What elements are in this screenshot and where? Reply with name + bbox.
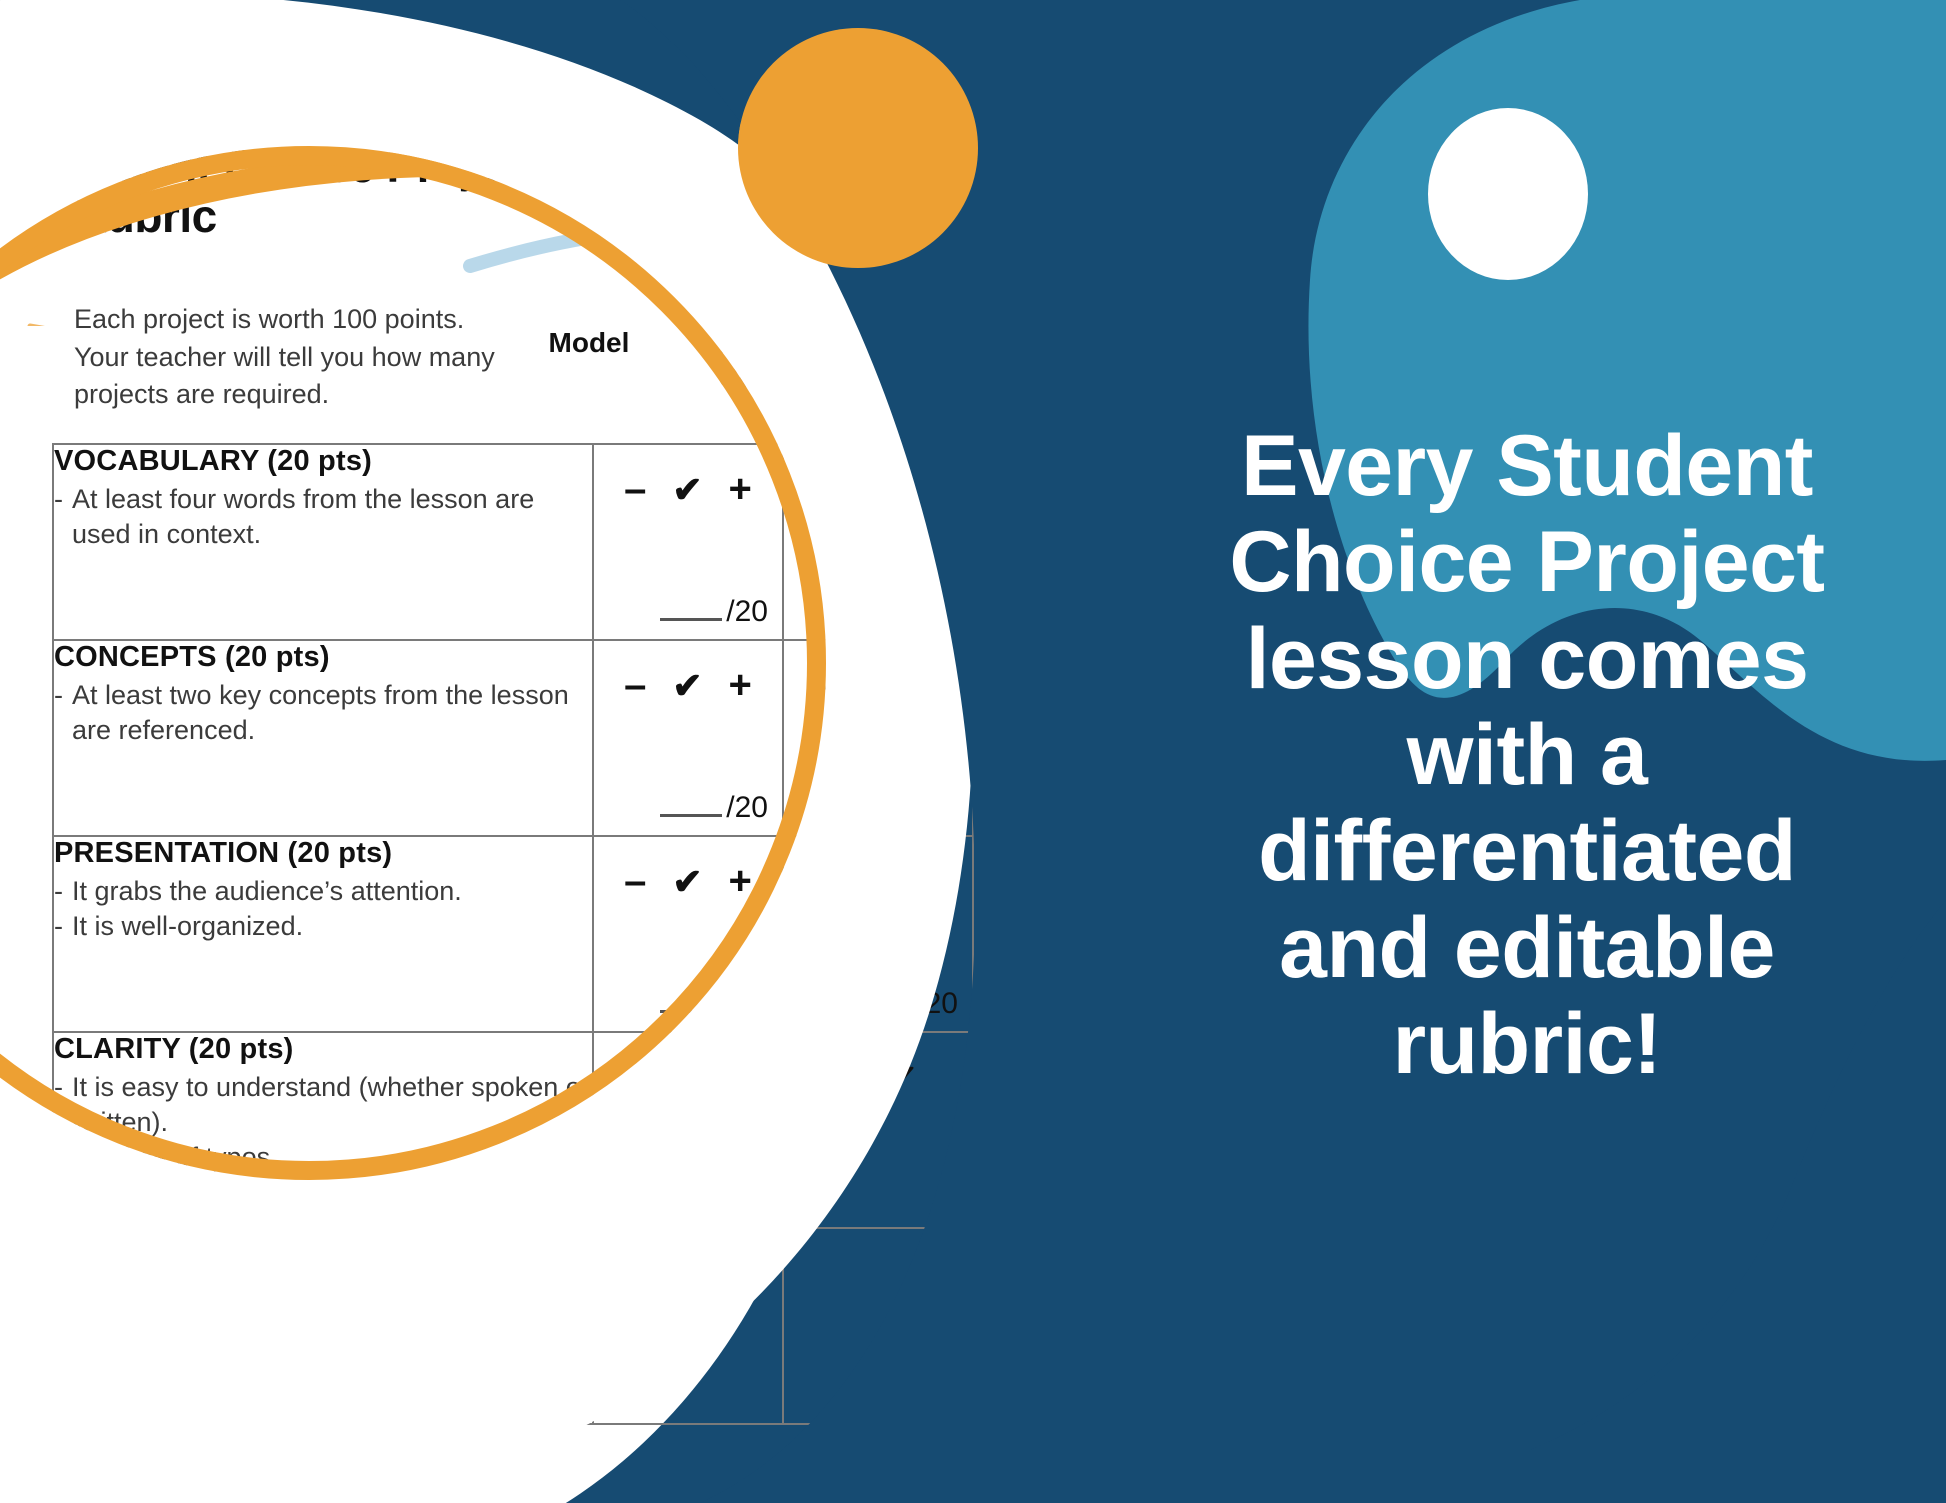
criterion-cell: VOCABULARY (20 pts) - At least four word…	[53, 444, 593, 640]
bullet-text: wings/models are accurate.	[54, 1266, 592, 1301]
minus-mark-icon[interactable]: –	[624, 859, 646, 904]
table-row: CLARITY (20 pts) - It is easy to underst…	[53, 1032, 1163, 1228]
table-row: PRESENTATION (20 pts) - It grabs the aud…	[53, 836, 1163, 1032]
score-blank-line[interactable]	[660, 1189, 722, 1209]
criterion-title: CLARITY (20 pts)	[54, 1033, 592, 1066]
minus-mark-icon[interactable]: –	[814, 859, 836, 904]
bullet-dash: -	[54, 482, 63, 552]
bullet-dash: -	[54, 1140, 63, 1175]
promo-graphic: tudent Choice Project Rubric Each projec…	[0, 0, 1946, 1503]
score-blank-line[interactable]	[660, 797, 722, 817]
minus-mark-icon[interactable]: –	[814, 467, 836, 512]
criterion-bullets: - It is easy to understand (whether spok…	[54, 1070, 592, 1175]
minus-mark-icon[interactable]: –	[1057, 663, 1079, 708]
score-cell-model[interactable]: –	[593, 1228, 783, 1424]
column-header-learning-center-line2: Cente	[673, 361, 841, 395]
score-cell-model[interactable]: – ✔ + /20	[593, 444, 783, 640]
score-cell-learning-center[interactable]: – ✔ + /20	[783, 640, 973, 836]
minus-mark-icon[interactable]: –	[624, 663, 646, 708]
bullet-text: n is correct.	[54, 1301, 592, 1336]
criterion-bullets: wings/models are accurate. n is correct.	[54, 1266, 592, 1336]
score-marks[interactable]: – ✔ +	[594, 837, 782, 904]
rubric-table-body: VOCABULARY (20 pts) - At least four word…	[53, 444, 1163, 1424]
points-field[interactable]: /20	[850, 987, 958, 1021]
criterion-cell: PRESENTATION (20 pts) - It grabs the aud…	[53, 836, 593, 1032]
rubric-document: tudent Choice Project Rubric Each projec…	[0, 66, 1010, 1425]
score-blank-line[interactable]	[850, 601, 912, 621]
criterion-cell: CLARITY (20 pts) - It is easy to underst…	[53, 1032, 593, 1228]
plus-mark-icon[interactable]: +	[919, 467, 942, 512]
promo-line-6: and editable	[1112, 900, 1942, 996]
score-blank-line[interactable]	[850, 797, 912, 817]
column-header-learning-center-line1: Learn	[673, 327, 841, 361]
criterion-title: VOCABULARY (20 pts)	[54, 445, 592, 478]
check-mark-icon[interactable]: ✔	[672, 469, 702, 511]
bullet-dash: -	[54, 874, 63, 909]
list-item: - It is free of typos.	[54, 1140, 592, 1175]
plus-mark-icon[interactable]: +	[729, 1055, 752, 1100]
list-item: - It is easy to understand (whether spok…	[54, 1070, 592, 1140]
bullet-dash: -	[54, 909, 63, 944]
bullet-text: It is easy to understand (whether spoken…	[72, 1070, 592, 1140]
score-cell-model[interactable]: – ✔ + /20	[593, 640, 783, 836]
points-suffix: /20	[726, 1183, 768, 1216]
points-suffix: /20	[726, 987, 768, 1020]
points-field[interactable]: /20	[660, 1183, 768, 1217]
check-mark-icon[interactable]: ✔	[887, 1057, 917, 1099]
promo-headline: Every Student Choice Project lesson come…	[1112, 418, 1942, 1092]
orange-circle-decoration-top	[738, 28, 978, 268]
points-field[interactable]: /20	[660, 987, 768, 1021]
score-marks[interactable]: – ✔	[784, 1033, 972, 1100]
bullet-dash: -	[54, 678, 63, 748]
check-mark-icon[interactable]: ✔	[862, 861, 892, 903]
plus-mark-icon[interactable]: +	[729, 467, 752, 512]
criterion-bullets: - At least four words from the lesson ar…	[54, 482, 592, 552]
list-item: - At least four words from the lesson ar…	[54, 482, 592, 552]
check-mark-icon[interactable]: ✔	[862, 665, 892, 707]
table-row: ACCURACY (20 pts) wings/models are accur…	[53, 1228, 1163, 1424]
minus-mark-icon[interactable]: –	[624, 1055, 646, 1100]
check-mark-icon[interactable]: ✔	[672, 665, 702, 707]
score-cell-learning-center[interactable]	[783, 1228, 973, 1424]
plus-mark-icon[interactable]: +	[919, 663, 942, 708]
rubric-table: VOCABULARY (20 pts) - At least four word…	[52, 443, 1164, 1425]
score-cell-third[interactable]	[973, 1228, 1163, 1424]
list-item: - It is well-organized.	[54, 909, 592, 944]
minus-mark-icon[interactable]: –	[839, 1055, 861, 1100]
promo-line-3: lesson comes	[1112, 611, 1942, 707]
minus-mark-icon[interactable]: –	[677, 1251, 699, 1296]
criterion-cell: CONCEPTS (20 pts) - At least two key con…	[53, 640, 593, 836]
score-marks[interactable]: – ✔ +	[784, 641, 972, 708]
score-blank-line[interactable]	[660, 601, 722, 621]
minus-mark-icon[interactable]: –	[814, 663, 836, 708]
points-field[interactable]: /20	[660, 791, 768, 825]
points-suffix: /20	[916, 987, 958, 1020]
criterion-title: ACCURACY (20 pts)	[54, 1229, 592, 1262]
plus-mark-icon[interactable]: +	[729, 859, 752, 904]
points-suffix: /20	[916, 791, 958, 824]
check-mark-icon[interactable]: ✔	[672, 861, 702, 903]
list-item: n is correct.	[54, 1301, 592, 1336]
minus-mark-icon[interactable]: –	[624, 467, 646, 512]
score-blank-line[interactable]	[660, 993, 722, 1013]
bullet-text: It is free of typos.	[72, 1140, 592, 1175]
score-marks[interactable]: – ✔ +	[594, 641, 782, 708]
bullet-text: At least four words from the lesson are …	[72, 482, 592, 552]
criterion-cell: ACCURACY (20 pts) wings/models are accur…	[53, 1228, 593, 1424]
score-blank-line[interactable]	[850, 993, 912, 1013]
points-field[interactable]: /20	[660, 595, 768, 629]
score-marks[interactable]: – ✔ +	[784, 445, 972, 512]
score-marks[interactable]: – ✔ +	[594, 1033, 782, 1100]
score-cell-learning-center[interactable]: – ✔	[783, 1032, 973, 1228]
score-cell-model[interactable]: – ✔ + /20	[593, 836, 783, 1032]
list-item: - It grabs the audience’s attention.	[54, 874, 592, 909]
minus-mark-icon[interactable]: –	[1057, 467, 1079, 512]
check-mark-icon[interactable]: ✔	[862, 469, 892, 511]
criterion-bullets: - At least two key concepts from the les…	[54, 678, 592, 748]
plus-mark-icon[interactable]: +	[919, 859, 942, 904]
criterion-title: PRESENTATION (20 pts)	[54, 837, 592, 870]
promo-line-7: rubric!	[1112, 996, 1942, 1092]
criterion-title: CONCEPTS (20 pts)	[54, 641, 592, 674]
bullet-text: It is well-organized.	[72, 909, 592, 944]
list-item: wings/models are accurate.	[54, 1266, 592, 1301]
points-suffix: /20	[916, 595, 958, 628]
list-item: - At least two key concepts from the les…	[54, 678, 592, 748]
score-cell-learning-center[interactable]: – ✔ + /20	[783, 444, 973, 640]
bullet-text: At least two key concepts from the lesso…	[72, 678, 592, 748]
criterion-bullets: - It grabs the audience’s attention. - I…	[54, 874, 592, 944]
score-marks[interactable]: – ✔ +	[784, 837, 972, 904]
promo-line-4: with a	[1112, 707, 1942, 803]
score-marks[interactable]: – ✔ +	[594, 445, 782, 512]
score-cell-model[interactable]: – ✔ + /20	[593, 1032, 783, 1228]
promo-line-1: Every Student	[1112, 418, 1942, 514]
promo-line-5: differentiated	[1112, 803, 1942, 899]
white-circle-decoration-top	[1428, 108, 1588, 280]
score-marks[interactable]: –	[594, 1229, 782, 1296]
points-field[interactable]: /20	[850, 791, 958, 825]
plus-mark-icon[interactable]: +	[729, 663, 752, 708]
points-suffix: /20	[726, 595, 768, 628]
table-row: VOCABULARY (20 pts) - At least four word…	[53, 444, 1163, 640]
promo-line-2: Choice Project	[1112, 514, 1942, 610]
score-cell-learning-center[interactable]: – ✔ + /20	[783, 836, 973, 1032]
table-row: CONCEPTS (20 pts) - At least two key con…	[53, 640, 1163, 836]
points-suffix: /20	[726, 791, 768, 824]
bullet-text: It grabs the audience’s attention.	[72, 874, 592, 909]
check-mark-icon[interactable]: ✔	[672, 1057, 702, 1099]
bullet-dash: -	[54, 1070, 63, 1140]
points-field[interactable]: /20	[850, 595, 958, 629]
